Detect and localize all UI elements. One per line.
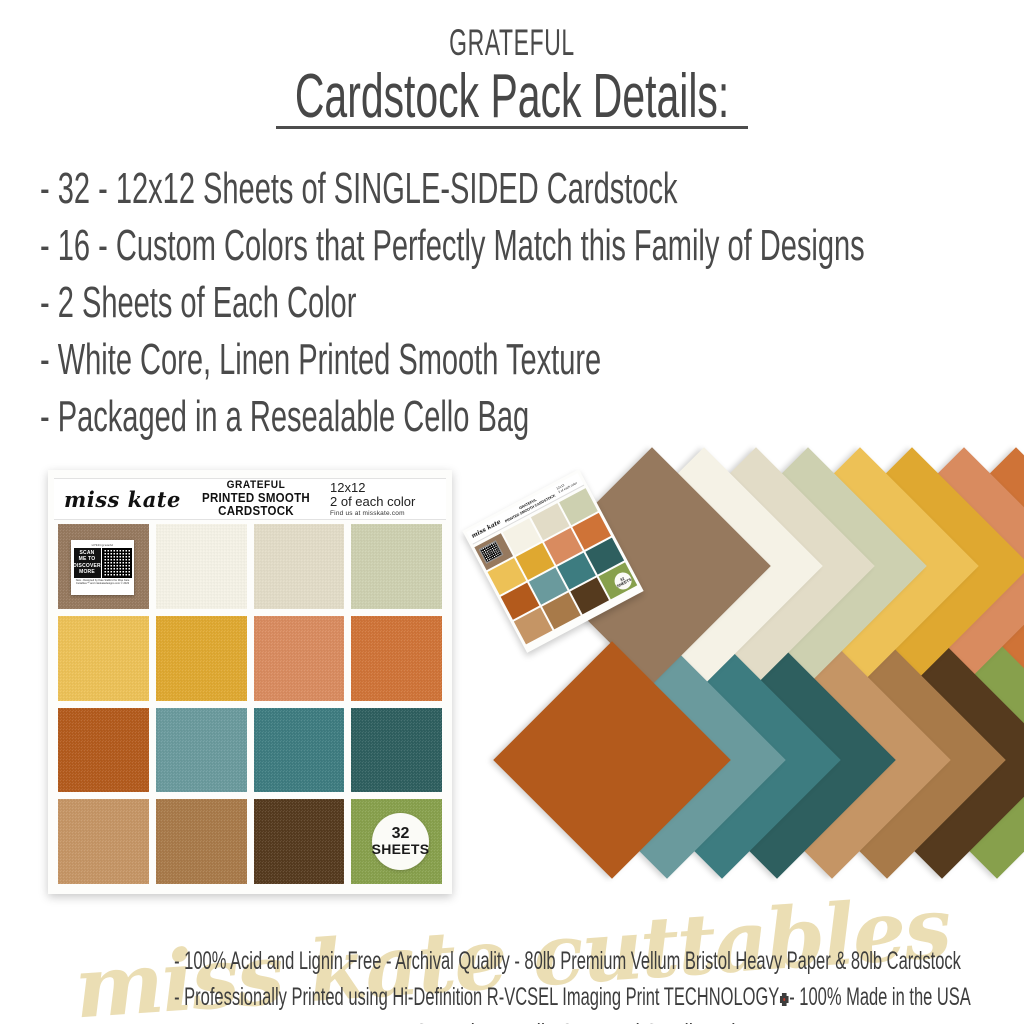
color-swatch xyxy=(351,524,442,609)
footer-disclaimers: - 100% Acid and Lignin Free - Archival Q… xyxy=(0,944,1024,1024)
color-swatch xyxy=(156,799,247,884)
qr-sticker: LP32Cgrateful SCAN ME TO DISCOVER MORE N… xyxy=(71,540,134,595)
page-title: Cardstock Pack Details: xyxy=(0,66,1024,128)
brand-script-logo: miss kate xyxy=(64,487,182,512)
color-swatch xyxy=(254,799,345,884)
color-swatch xyxy=(156,616,247,701)
pack-size: 12x12 xyxy=(330,481,440,496)
color-swatch xyxy=(58,616,149,701)
color-swatch xyxy=(254,708,345,793)
color-swatch: 32 SHEETS xyxy=(351,799,442,884)
page-title-text: Cardstock Pack Details: xyxy=(295,66,729,128)
sheet-count-unit: SHEETS xyxy=(372,842,430,857)
qr-sticker-code: LP32Cgrateful xyxy=(92,543,114,547)
color-swatch xyxy=(351,708,442,793)
mini-qr-code-icon xyxy=(479,541,503,564)
registered-technology-icon xyxy=(780,993,789,1006)
sheet-count-number: 32 xyxy=(392,826,410,842)
qr-sticker-footer: New - Designed by Kate Stafford for Miss… xyxy=(73,579,132,586)
color-swatch-grid: LP32Cgrateful SCAN ME TO DISCOVER MORE N… xyxy=(58,524,442,884)
list-item: - 16 - Custom Colors that Perfectly Matc… xyxy=(40,217,1017,274)
collection-name: GRATEFUL xyxy=(195,22,830,64)
qr-code-icon xyxy=(102,548,132,578)
footer-line-3: * We are a Woman Owned & Family Operated… xyxy=(174,1015,850,1024)
pack-label-right: 12x12 2 of each color Find us at misskat… xyxy=(330,481,446,517)
color-swatch: LP32Cgrateful SCAN ME TO DISCOVER MORE N… xyxy=(58,524,149,609)
list-item: - White Core, Linen Printed Smooth Textu… xyxy=(40,331,1017,388)
footer-line-2-suffix: - 100% Made in the USA xyxy=(789,983,971,1011)
qr-sticker-call-to-action: SCAN ME TO DISCOVER MORE xyxy=(74,548,101,578)
color-swatch xyxy=(156,524,247,609)
color-swatch xyxy=(58,799,149,884)
pack-label-band: miss kate GRATEFUL PRINTED SMOOTH CARDST… xyxy=(54,478,446,520)
list-item: - 2 Sheets of Each Color xyxy=(40,274,1017,331)
footer-line-2: - Professionally Printed using Hi-Defini… xyxy=(174,980,850,1016)
qr-cta-line-4: MORE xyxy=(79,569,95,575)
pack-label-center: GRATEFUL PRINTED SMOOTH CARDSTOCK xyxy=(182,480,330,518)
color-swatch xyxy=(351,616,442,701)
sheet-count-badge: 32 SHEETS xyxy=(372,813,429,870)
footer-line-2-text: - Professionally Printed using Hi-Defini… xyxy=(174,983,779,1011)
mini-sheet-count-badge: 32SHEETS xyxy=(612,569,635,592)
pack-product-name: PRINTED SMOOTH CARDSTOCK xyxy=(188,492,324,518)
product-detail-graphic: GRATEFUL Cardstock Pack Details: - 32 - … xyxy=(0,0,1024,1024)
pack-details-list: - 32 - 12x12 Sheets of SINGLE-SIDED Card… xyxy=(40,160,1020,445)
color-swatch xyxy=(58,708,149,793)
pack-website: Find us at misskate.com xyxy=(330,510,440,517)
list-item: - Packaged in a Resealable Cello Bag xyxy=(40,388,1017,445)
color-swatch xyxy=(156,708,247,793)
qr-sticker-body: SCAN ME TO DISCOVER MORE xyxy=(74,548,132,578)
cardstock-pack-card: miss kate GRATEFUL PRINTED SMOOTH CARDST… xyxy=(48,470,452,894)
pack-quantity-note: 2 of each color xyxy=(330,495,440,510)
footer-line-1: - 100% Acid and Lignin Free - Archival Q… xyxy=(174,944,850,980)
color-swatch xyxy=(254,524,345,609)
color-swatch xyxy=(254,616,345,701)
list-item: - 32 - 12x12 Sheets of SINGLE-SIDED Card… xyxy=(40,160,1017,217)
title-underline xyxy=(276,126,748,129)
